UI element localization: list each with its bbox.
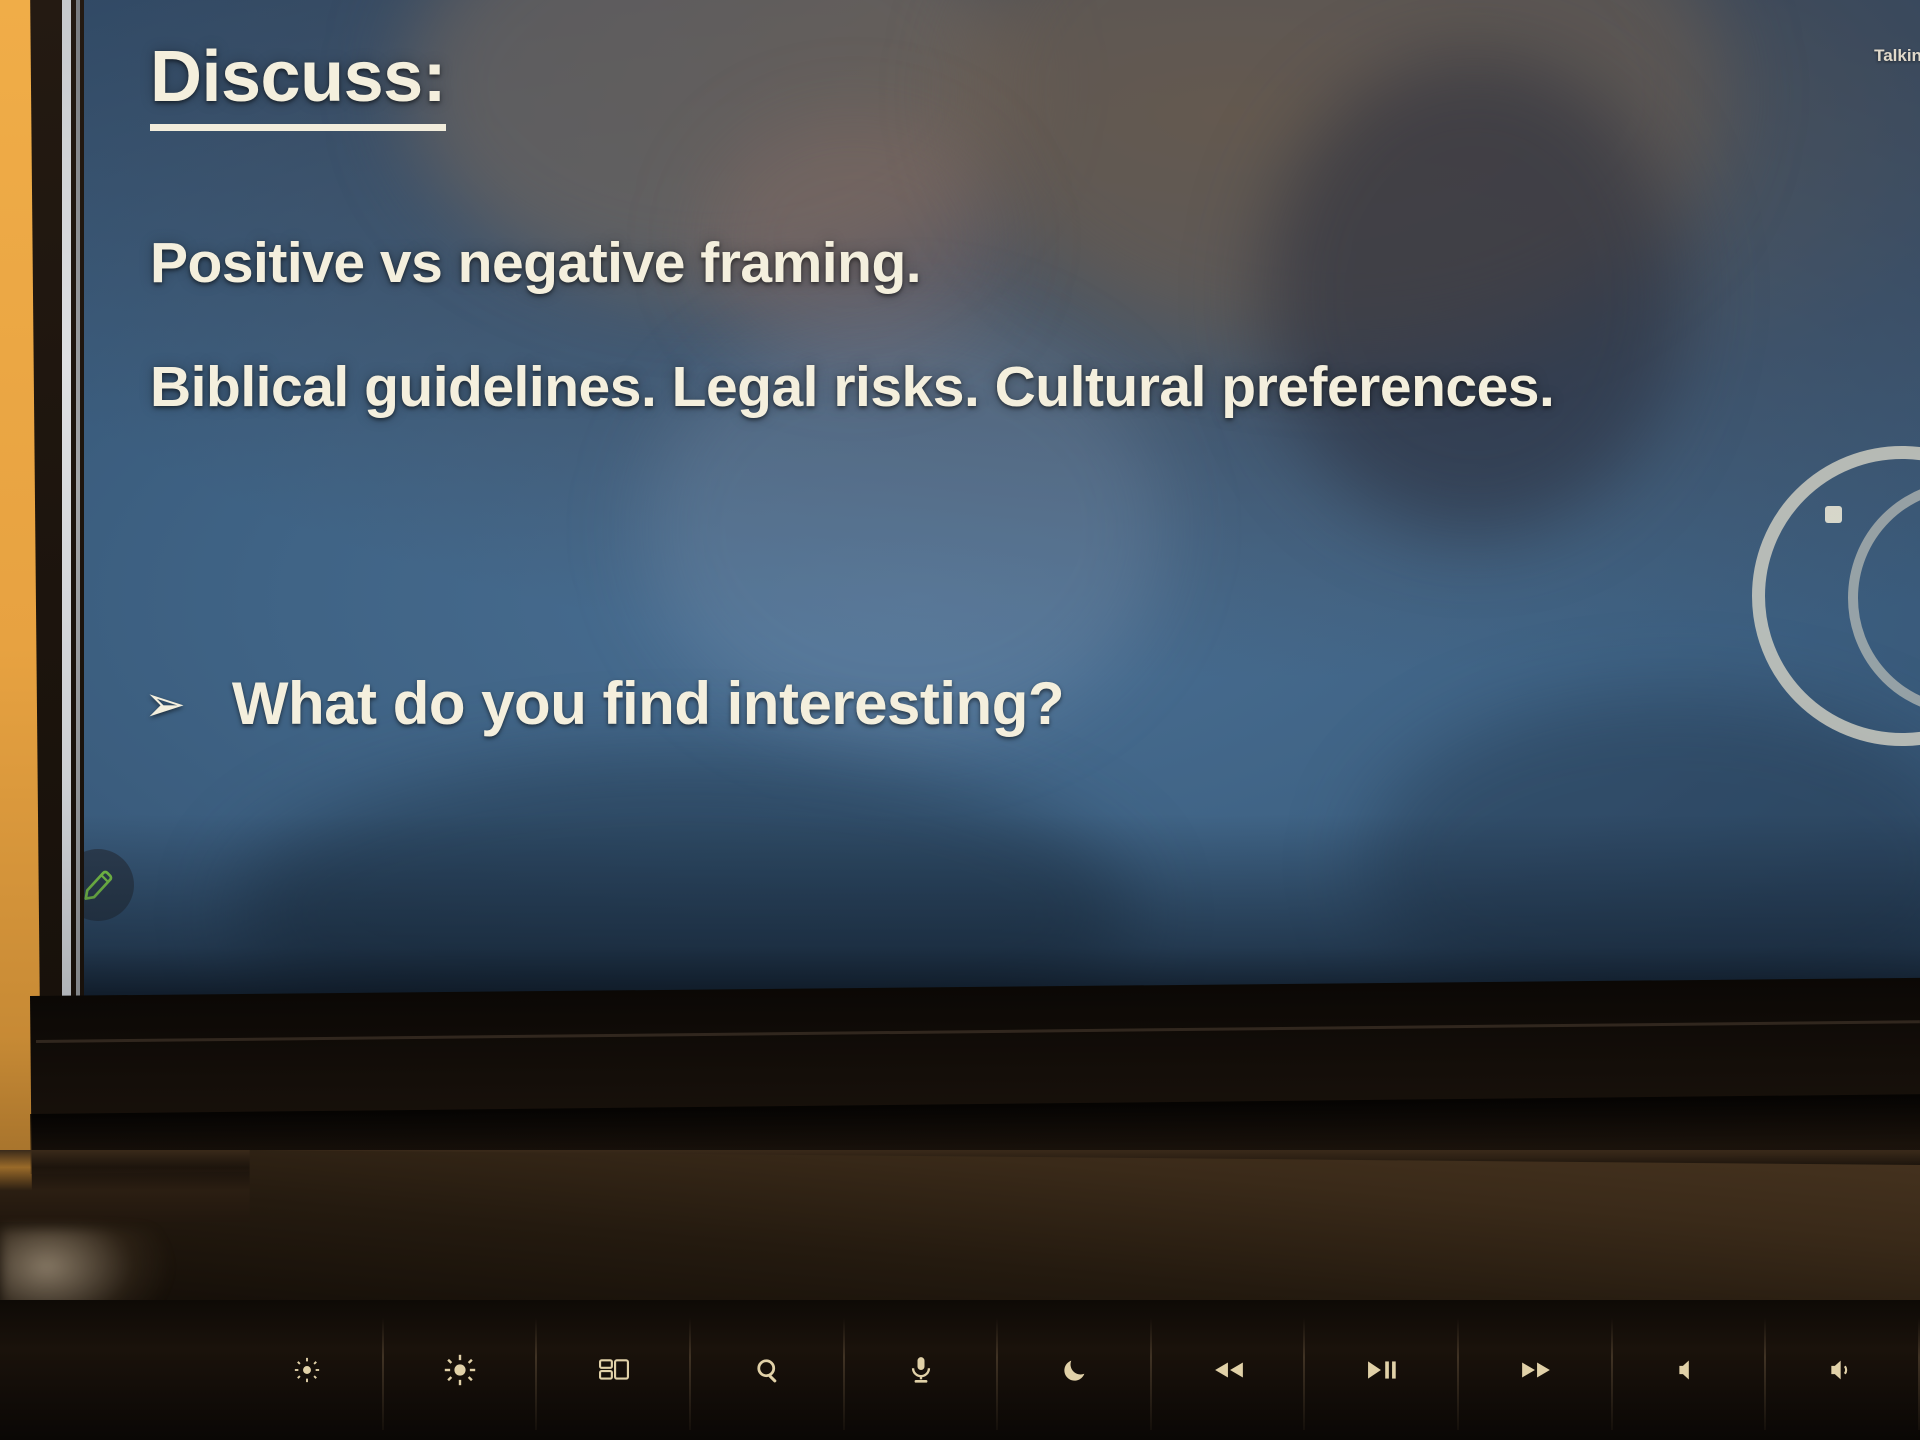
- search-icon: [754, 1356, 782, 1384]
- slide-body-line-2: Biblical guidelines. Legal risks. Cultur…: [150, 354, 1554, 420]
- spotlight-search-key[interactable]: [691, 1300, 845, 1440]
- mission-control-icon: [599, 1358, 629, 1382]
- brightness-down-key[interactable]: [230, 1300, 384, 1440]
- mission-control-key[interactable]: [537, 1300, 691, 1440]
- do-not-disturb-key[interactable]: [998, 1300, 1152, 1440]
- screen-glare-reflection: [1364, 694, 1920, 1004]
- mute-key[interactable]: [1613, 1300, 1767, 1440]
- brightness-high-icon: [444, 1354, 476, 1386]
- screen-glare-reflection: [234, 754, 1134, 1004]
- escape-key-area[interactable]: [0, 1300, 230, 1440]
- brightness-low-icon: [293, 1356, 321, 1384]
- laptop-screen[interactable]: Discuss: Positive vs negative framing. B…: [84, 0, 1920, 1004]
- fast-forward-key[interactable]: [1459, 1300, 1613, 1440]
- screen-glare-reflection: [964, 0, 1724, 354]
- moon-icon: [1061, 1356, 1089, 1384]
- slide-bullet-item: ➢ What do you find interesting?: [144, 669, 1064, 738]
- play-pause-icon: [1367, 1359, 1397, 1381]
- laptop-deck-lip: [0, 1150, 1920, 1300]
- function-key-row[interactable]: [0, 1300, 1920, 1440]
- slide-bullet-label: What do you find interesting?: [232, 669, 1064, 738]
- slide-title: Discuss:: [150, 36, 446, 131]
- speaker-low-icon: [1829, 1357, 1857, 1383]
- speaker-mute-icon: [1677, 1357, 1703, 1383]
- volume-down-key[interactable]: [1766, 1300, 1920, 1440]
- slide-square-accent: [1825, 506, 1842, 523]
- pen-icon: [84, 868, 115, 902]
- play-pause-key[interactable]: [1305, 1300, 1459, 1440]
- arrow-bullet-icon: ➢: [144, 679, 186, 729]
- brightness-up-key[interactable]: [384, 1300, 538, 1440]
- slide-body-line-1: Positive vs negative framing.: [150, 230, 921, 296]
- fast-forward-icon: [1520, 1359, 1552, 1381]
- microphone-icon: [908, 1356, 934, 1384]
- rewind-icon: [1213, 1359, 1245, 1381]
- screen-glare-reflection: [1264, 54, 1684, 534]
- pen-annotation-tool-button[interactable]: [84, 849, 134, 921]
- screen-bottom-vignette: [84, 814, 1920, 1004]
- dictation-key[interactable]: [845, 1300, 999, 1440]
- rewind-key[interactable]: [1152, 1300, 1306, 1440]
- presenter-talking-label: Talking:: [1874, 46, 1920, 66]
